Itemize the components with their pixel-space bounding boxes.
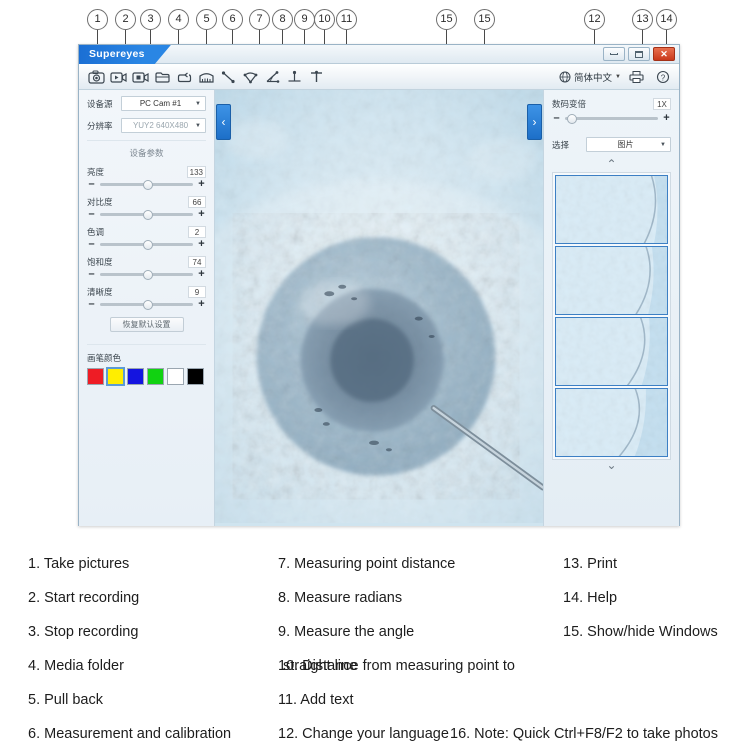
measure-radians-button[interactable] bbox=[240, 66, 261, 87]
slider-control[interactable]: –+ bbox=[87, 270, 206, 279]
callout-8-7: 8 bbox=[272, 9, 293, 30]
slider-decrease-button[interactable]: – bbox=[87, 240, 96, 249]
printer-icon bbox=[629, 70, 644, 84]
callout-11-10: 11 bbox=[336, 9, 357, 30]
slider-header: 对比度66 bbox=[87, 196, 206, 208]
slider-track[interactable] bbox=[100, 243, 193, 246]
slider-group: 亮度133–+对比度66–+色调2–+饱和度74–+清晰度9–+ bbox=[87, 166, 206, 309]
callout-number: 7 bbox=[249, 9, 270, 30]
callout-12-13: 12 bbox=[584, 9, 605, 30]
language-selector[interactable]: 简体中文 ▼ bbox=[559, 70, 621, 84]
slider-increase-button[interactable]: + bbox=[197, 300, 206, 309]
device-source-label: 设备源 bbox=[87, 98, 121, 110]
callout-5-4: 5 bbox=[196, 9, 217, 30]
close-icon: ✕ bbox=[654, 48, 674, 60]
zoom-decrease-button[interactable]: – bbox=[552, 114, 561, 123]
legend-item: 13. Print bbox=[563, 556, 617, 572]
legend-item: 8. Measure radians bbox=[278, 590, 402, 606]
callout-number: 15 bbox=[474, 9, 495, 30]
slider-3: 饱和度74–+ bbox=[87, 256, 206, 279]
callout-7-6: 7 bbox=[249, 9, 270, 30]
pull-back-button[interactable] bbox=[174, 66, 195, 87]
callout-number: 8 bbox=[272, 9, 293, 30]
callout-number: 9 bbox=[294, 9, 315, 30]
close-button[interactable]: ✕ bbox=[653, 47, 675, 61]
thumbnail-image bbox=[556, 176, 667, 243]
device-settings-panel: 设备源 PC Cam #1 ▼ 分辨率 YUY2 640X480 ▼ 设备参数 … bbox=[79, 90, 215, 526]
add-text-button[interactable] bbox=[306, 66, 327, 87]
slider-control[interactable]: –+ bbox=[87, 300, 206, 309]
gallery-panel: 数码变倍 1X – + 选择 图片 ▼ ⌃ ⌄ bbox=[543, 90, 679, 526]
language-label: 简体中文 bbox=[574, 70, 612, 84]
help-icon: ? bbox=[656, 70, 670, 84]
slider-value: 133 bbox=[187, 166, 206, 178]
legend-item: 11. Add text bbox=[278, 692, 354, 708]
callout-number: 10 bbox=[314, 9, 335, 30]
callout-14-15: 14 bbox=[656, 9, 677, 30]
slider-track[interactable] bbox=[100, 213, 193, 216]
slider-decrease-button[interactable]: – bbox=[87, 300, 96, 309]
slider-increase-button[interactable]: + bbox=[197, 210, 206, 219]
thumbnail-image bbox=[556, 318, 667, 385]
slider-1: 对比度66–+ bbox=[87, 196, 206, 219]
slider-control[interactable]: –+ bbox=[87, 180, 206, 189]
legend-item: straight line bbox=[283, 658, 357, 674]
slider-track[interactable] bbox=[100, 303, 193, 306]
window-body: 设备源 PC Cam #1 ▼ 分辨率 YUY2 640X480 ▼ 设备参数 … bbox=[79, 90, 679, 526]
digital-zoom-row: 数码变倍 1X bbox=[552, 98, 671, 110]
toolbar-right-group: 简体中文 ▼ ? bbox=[559, 64, 673, 90]
thumbnail-list bbox=[552, 172, 671, 460]
legend-item: 9. Measure the angle bbox=[278, 624, 414, 640]
help-button[interactable]: ? bbox=[652, 67, 673, 88]
reset-defaults-button[interactable]: 恢复默认设置 bbox=[110, 317, 184, 332]
legend-item: 1. Take pictures bbox=[28, 556, 129, 572]
legend-item: 15. Show/hide Windows bbox=[563, 624, 718, 640]
thumbnail-list-wrapper: ⌃ ⌄ bbox=[552, 159, 671, 473]
slider-value: 74 bbox=[188, 256, 206, 268]
slider-header: 亮度133 bbox=[87, 166, 206, 178]
chevron-down-icon: ▼ bbox=[195, 123, 201, 129]
slider-label: 对比度 bbox=[87, 196, 113, 208]
slider-0: 亮度133–+ bbox=[87, 166, 206, 189]
slider-4: 清晰度9–+ bbox=[87, 286, 206, 309]
slider-label: 色调 bbox=[87, 226, 104, 238]
scroll-down-button[interactable]: ⌄ bbox=[552, 460, 671, 473]
resolution-label: 分辨率 bbox=[87, 120, 121, 132]
legend-item: 5. Pull back bbox=[28, 692, 103, 708]
slider-header: 清晰度9 bbox=[87, 286, 206, 298]
callout-2-1: 2 bbox=[115, 9, 136, 30]
legend-item: 3. Stop recording bbox=[28, 624, 138, 640]
slider-control[interactable]: –+ bbox=[87, 210, 206, 219]
live-video-image bbox=[215, 90, 543, 523]
app-title: Supereyes bbox=[79, 45, 171, 64]
callout-number: 3 bbox=[140, 9, 161, 30]
measure-angle-button[interactable] bbox=[262, 66, 283, 87]
point-to-line-distance-button[interactable] bbox=[284, 66, 305, 87]
chevron-down-icon: ▼ bbox=[195, 101, 201, 107]
video-play-icon bbox=[110, 70, 127, 84]
toolbar-tool-group bbox=[79, 66, 327, 87]
pen-color-white[interactable] bbox=[167, 368, 184, 385]
pen-color-blue[interactable] bbox=[127, 368, 144, 385]
slider-decrease-button[interactable]: – bbox=[87, 210, 96, 219]
media-type-select[interactable]: 图片 ▼ bbox=[586, 137, 671, 152]
pen-color-black[interactable] bbox=[187, 368, 204, 385]
callout-number: 5 bbox=[196, 9, 217, 30]
legend-note: 16. Note: Quick Ctrl+F8/F2 to take photo… bbox=[450, 726, 718, 742]
take-picture-button[interactable] bbox=[86, 66, 107, 87]
slider-decrease-button[interactable]: – bbox=[87, 270, 96, 279]
thumbnail-3[interactable] bbox=[555, 317, 668, 386]
callout-6-5: 6 bbox=[222, 9, 243, 30]
measurement-calibration-button[interactable] bbox=[196, 66, 217, 87]
resolution-select[interactable]: YUY2 640X480 ▼ bbox=[121, 118, 206, 133]
callout-number: 15 bbox=[436, 9, 457, 30]
legend-item: 6. Measurement and calibration bbox=[28, 726, 231, 742]
slider-value: 66 bbox=[188, 196, 206, 208]
media-select-label: 选择 bbox=[552, 139, 586, 151]
line-distance-icon bbox=[220, 70, 237, 84]
legend-item: 2. Start recording bbox=[28, 590, 139, 606]
radian-icon bbox=[242, 70, 259, 84]
thumbnail-4[interactable] bbox=[555, 388, 668, 457]
callout-4-3: 4 bbox=[168, 9, 189, 30]
slider-label: 饱和度 bbox=[87, 256, 113, 268]
chevron-down-icon: ▼ bbox=[615, 74, 621, 80]
slider-knob[interactable] bbox=[143, 300, 153, 310]
slider-knob[interactable] bbox=[143, 270, 153, 280]
globe-icon bbox=[559, 71, 571, 83]
legend-item: 4. Media folder bbox=[28, 658, 124, 674]
slider-knob[interactable] bbox=[143, 240, 153, 250]
pen-color-swatches bbox=[87, 368, 206, 385]
application-window: Supereyes ✕ bbox=[78, 44, 680, 526]
device-source-select[interactable]: PC Cam #1 ▼ bbox=[121, 96, 206, 111]
digital-zoom-value: 1X bbox=[653, 98, 671, 110]
slider-label: 亮度 bbox=[87, 166, 104, 178]
legend-caption: 1. Take pictures2. Start recording3. Sto… bbox=[0, 536, 750, 750]
callout-15-12: 15 bbox=[474, 9, 495, 30]
video-preview-area[interactable]: ‹ › bbox=[215, 90, 543, 526]
pen-color-red[interactable] bbox=[87, 368, 104, 385]
show-hide-right-panel-button[interactable]: › bbox=[527, 104, 542, 140]
calibration-icon bbox=[198, 70, 215, 84]
media-select-row: 选择 图片 ▼ bbox=[552, 137, 671, 152]
device-source-row: 设备源 PC Cam #1 ▼ bbox=[87, 96, 206, 111]
start-recording-button[interactable] bbox=[108, 66, 129, 87]
callout-number: 2 bbox=[115, 9, 136, 30]
resolution-row: 分辨率 YUY2 640X480 ▼ bbox=[87, 118, 206, 133]
minimize-icon bbox=[604, 48, 624, 60]
callout-1-0: 1 bbox=[87, 9, 108, 30]
legend-item: 7. Measuring point distance bbox=[278, 556, 455, 572]
svg-text:?: ? bbox=[660, 73, 665, 82]
pen-color-label: 画笔颜色 bbox=[87, 344, 206, 364]
legend-item: 12. Change your language bbox=[278, 726, 449, 742]
camera-icon bbox=[88, 70, 105, 84]
callout-15-11: 15 bbox=[436, 9, 457, 30]
digital-zoom-label: 数码变倍 bbox=[552, 98, 586, 110]
callout-9-8: 9 bbox=[294, 9, 315, 30]
slider-2: 色调2–+ bbox=[87, 226, 206, 249]
slider-knob[interactable] bbox=[143, 180, 153, 190]
title-bar: Supereyes ✕ bbox=[79, 45, 679, 64]
zoom-slider-track[interactable] bbox=[565, 117, 658, 120]
folder-icon bbox=[154, 70, 171, 84]
device-parameters-heading: 设备参数 bbox=[87, 140, 206, 159]
callout-number: 12 bbox=[584, 9, 605, 30]
callout-number: 6 bbox=[222, 9, 243, 30]
video-stop-icon bbox=[132, 70, 149, 84]
callout-number: 1 bbox=[87, 9, 108, 30]
add-text-icon bbox=[308, 70, 325, 84]
pen-color-green[interactable] bbox=[147, 368, 164, 385]
thumbnail-2[interactable] bbox=[555, 246, 668, 315]
print-button[interactable] bbox=[626, 67, 647, 88]
slider-header: 饱和度74 bbox=[87, 256, 206, 268]
digital-zoom-slider[interactable]: – + bbox=[552, 114, 671, 123]
callout-number: 4 bbox=[168, 9, 189, 30]
callout-10-9: 10 bbox=[314, 9, 335, 30]
slider-increase-button[interactable]: + bbox=[197, 180, 206, 189]
slider-increase-button[interactable]: + bbox=[197, 270, 206, 279]
slider-knob[interactable] bbox=[143, 210, 153, 220]
legend-item: 14. Help bbox=[563, 590, 617, 606]
minimize-button[interactable] bbox=[603, 47, 625, 61]
show-hide-left-panel-button[interactable]: ‹ bbox=[216, 104, 231, 140]
slider-value: 2 bbox=[188, 226, 206, 238]
point-to-line-icon bbox=[286, 70, 303, 84]
slider-control[interactable]: –+ bbox=[87, 240, 206, 249]
device-source-value: PC Cam #1 bbox=[126, 99, 195, 108]
scroll-up-button[interactable]: ⌃ bbox=[552, 159, 671, 172]
callout-number: 11 bbox=[336, 9, 357, 30]
main-toolbar: 简体中文 ▼ ? bbox=[79, 64, 679, 90]
window-controls: ✕ bbox=[603, 47, 675, 61]
maximize-icon bbox=[629, 48, 649, 60]
slider-decrease-button[interactable]: – bbox=[87, 180, 96, 189]
resolution-value: YUY2 640X480 bbox=[126, 121, 195, 130]
callout-3-2: 3 bbox=[140, 9, 161, 30]
thumbnail-1[interactable] bbox=[555, 175, 668, 244]
slider-track[interactable] bbox=[100, 273, 193, 276]
pen-color-yellow[interactable] bbox=[107, 368, 124, 385]
stop-recording-button[interactable] bbox=[130, 66, 151, 87]
slider-header: 色调2 bbox=[87, 226, 206, 238]
slider-value: 9 bbox=[188, 286, 206, 298]
media-type-value: 图片 bbox=[591, 139, 660, 150]
angle-icon bbox=[264, 70, 281, 84]
slider-label: 清晰度 bbox=[87, 286, 113, 298]
callout-number: 14 bbox=[656, 9, 677, 30]
media-folder-button[interactable] bbox=[152, 66, 173, 87]
thumbnail-image bbox=[556, 389, 667, 456]
measure-point-distance-button[interactable] bbox=[218, 66, 239, 87]
maximize-button[interactable] bbox=[628, 47, 650, 61]
zoom-slider-knob[interactable] bbox=[567, 114, 577, 124]
chevron-down-icon: ▼ bbox=[660, 142, 666, 148]
callout-13-14: 13 bbox=[632, 9, 653, 30]
zoom-increase-button[interactable]: + bbox=[662, 114, 671, 123]
slider-track[interactable] bbox=[100, 183, 193, 186]
undo-arrow-icon bbox=[176, 70, 193, 84]
callout-number: 13 bbox=[632, 9, 653, 30]
slider-increase-button[interactable]: + bbox=[197, 240, 206, 249]
thumbnail-image bbox=[556, 247, 667, 314]
